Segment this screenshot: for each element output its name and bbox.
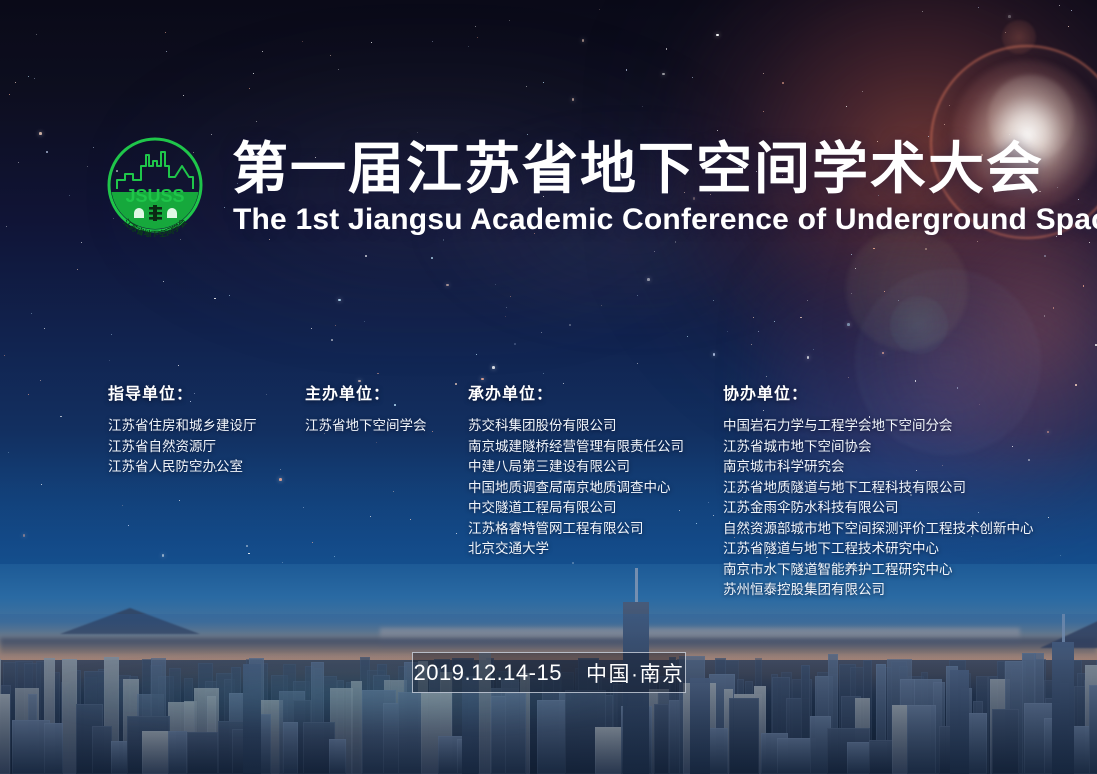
list-item: 江苏省隧道与地下工程技术研究中心 xyxy=(723,539,1034,560)
list-item: 中建八局第三建设有限公司 xyxy=(468,457,684,478)
event-date: 2019.12.14-15 xyxy=(414,660,562,686)
organizer-list: 江苏省地下空间学会 xyxy=(305,416,427,437)
organizer-heading: 指导单位： xyxy=(108,380,257,404)
list-item: 苏交科集团股份有限公司 xyxy=(468,416,684,437)
bokeh-circle-icon xyxy=(1002,20,1036,54)
organizer-list: 江苏省住房和城乡建设厅 江苏省自然资源厅 江苏省人民防空办公室 xyxy=(108,416,257,478)
bokeh-circle-icon xyxy=(890,296,948,354)
list-item: 江苏省地下空间学会 xyxy=(305,416,427,437)
mountain-silhouette-small xyxy=(60,608,200,634)
list-item: 江苏省地质隧道与地下工程科技有限公司 xyxy=(723,478,1034,499)
organizer-column-undertaker: 承办单位： 苏交科集团股份有限公司 南京城建隧桥经营管理有限责任公司 中建八局第… xyxy=(468,380,684,560)
list-item: 江苏金雨伞防水科技有限公司 xyxy=(723,498,1034,519)
organizer-column-guiding: 指导单位： 江苏省住房和城乡建设厅 江苏省自然资源厅 江苏省人民防空办公室 xyxy=(108,380,257,478)
poster-title-english: The 1st Jiangsu Academic Conference of U… xyxy=(233,205,1097,235)
jsuss-logo: JSUSS 江苏省地下空间学会 xyxy=(103,133,207,237)
organizer-heading: 承办单位： xyxy=(468,380,684,404)
organizer-column-coorganizer: 协办单位： 中国岩石力学与工程学会地下空间分会 江苏省城市地下空间协会 南京城市… xyxy=(723,380,1034,601)
list-item: 江苏格睿特管网工程有限公司 xyxy=(468,519,684,540)
list-item: 中交隧道工程局有限公司 xyxy=(468,498,684,519)
list-item: 南京市水下隧道智能养护工程研究中心 xyxy=(723,560,1034,581)
list-item: 江苏省人民防空办公室 xyxy=(108,457,257,478)
poster-title-chinese: 第一届江苏省地下空间学术大会 xyxy=(232,141,1044,197)
list-item: 江苏省自然资源厅 xyxy=(108,437,257,458)
logo-acronym: JSUSS xyxy=(125,186,184,206)
list-item: 苏州恒泰控股集团有限公司 xyxy=(723,580,1034,601)
organizer-heading: 协办单位： xyxy=(723,380,1034,404)
list-item: 中国地质调查局南京地质调查中心 xyxy=(468,478,684,499)
organizer-column-host: 主办单位： 江苏省地下空间学会 xyxy=(305,380,427,437)
list-item: 江苏省住房和城乡建设厅 xyxy=(108,416,257,437)
list-item: 南京城市科学研究会 xyxy=(723,457,1034,478)
conference-poster: JSUSS 江苏省地下空间学会 第一届江苏省地下空间学术大会 The 1st J… xyxy=(0,0,1097,774)
event-location: 中国·南京 xyxy=(586,658,685,688)
list-item: 北京交通大学 xyxy=(468,539,684,560)
organizer-heading: 主办单位： xyxy=(305,380,427,404)
list-item: 自然资源部城市地下空间探测评价工程技术创新中心 xyxy=(723,519,1034,540)
list-item: 中国岩石力学与工程学会地下空间分会 xyxy=(723,416,1034,437)
organizer-list: 中国岩石力学与工程学会地下空间分会 江苏省城市地下空间协会 南京城市科学研究会 … xyxy=(723,416,1034,601)
organizer-list: 苏交科集团股份有限公司 南京城建隧桥经营管理有限责任公司 中建八局第三建设有限公… xyxy=(468,416,684,560)
list-item: 江苏省城市地下空间协会 xyxy=(723,437,1034,458)
list-item: 南京城建隧桥经营管理有限责任公司 xyxy=(468,437,684,458)
event-date-location-banner: 2019.12.14-15 中国·南京 xyxy=(412,652,686,693)
